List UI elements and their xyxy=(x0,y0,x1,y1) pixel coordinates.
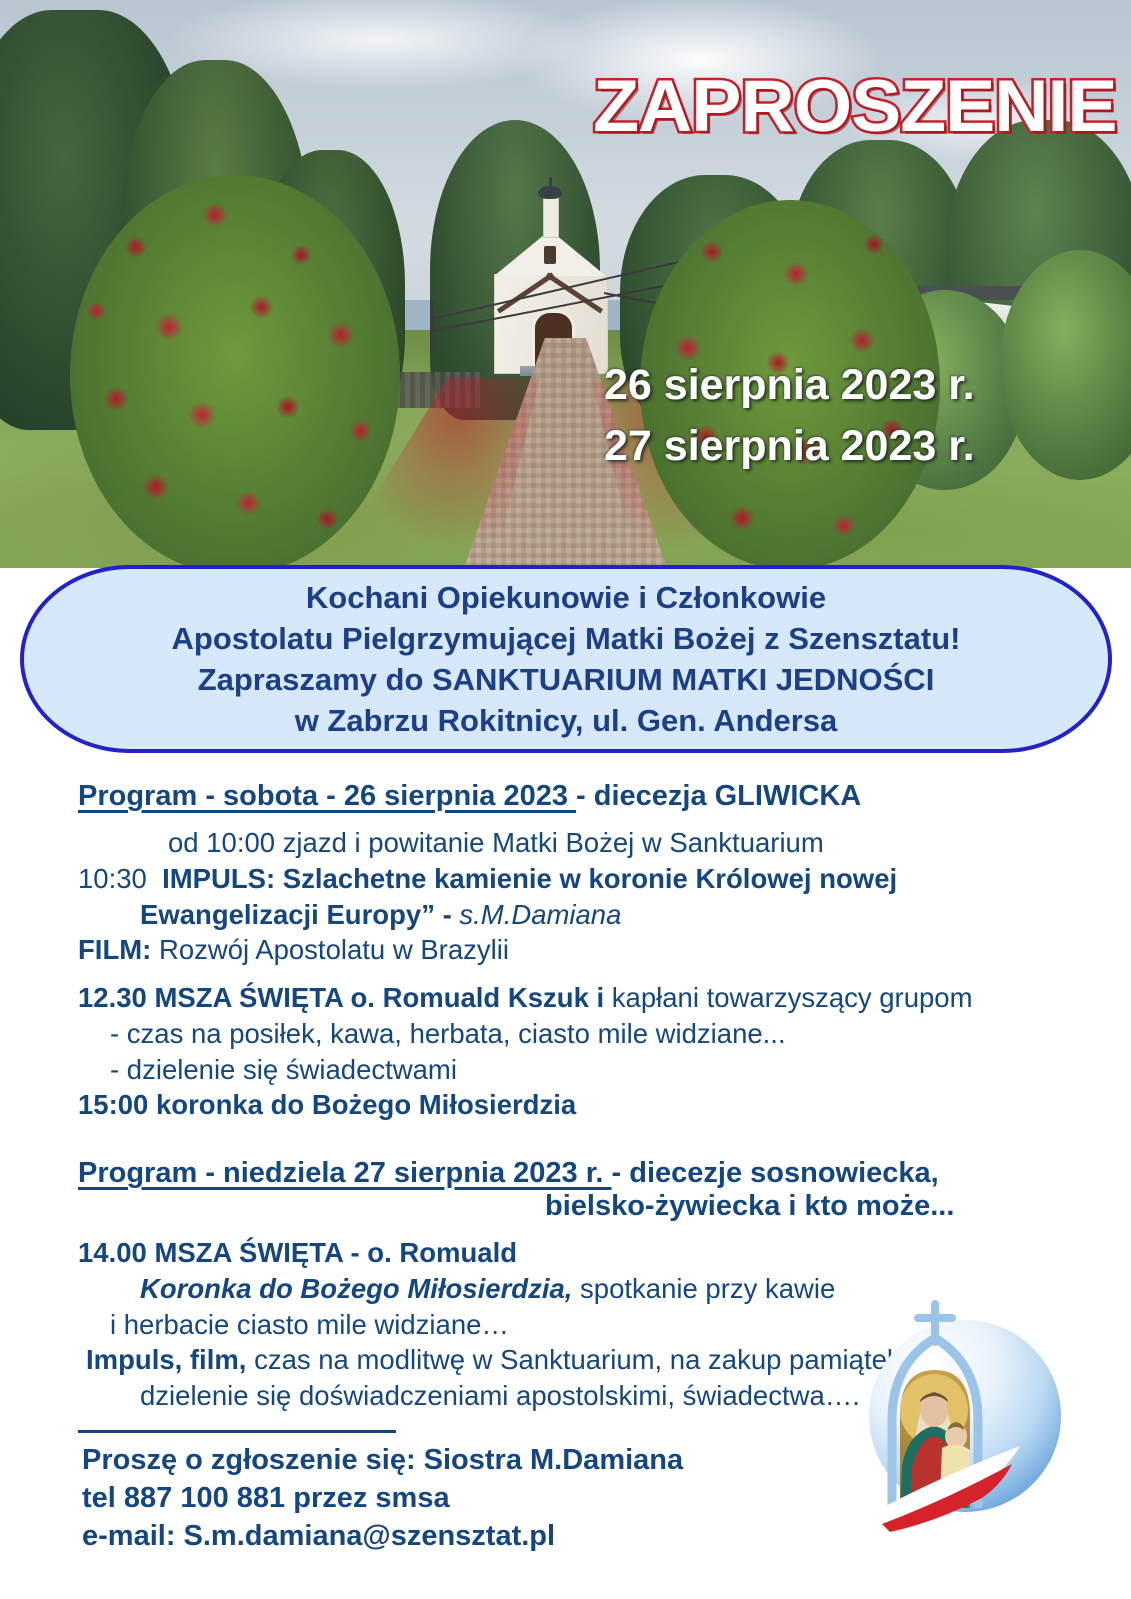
invitation-poster: ZAPROSZENIE 26 sierpnia 2023 r. 27 sierp… xyxy=(0,0,1131,1599)
callout-line-2: Apostolatu Pielgrzymującej Matki Bożej z… xyxy=(172,618,961,659)
saturday-item-chaplet: 15:00 koronka do Bożego Miłosierdzia xyxy=(0,1087,1131,1123)
poster-title: ZAPROSZENIE xyxy=(593,72,1067,141)
event-date-2: 27 sierpnia 2023 r. xyxy=(604,416,1074,477)
rose-bush xyxy=(70,175,400,568)
dash-separator: - xyxy=(435,899,459,930)
schoenstatt-logo xyxy=(860,1298,1065,1538)
saturday-heading: Program - sobota - 26 sierpnia 2023 - di… xyxy=(0,780,1131,813)
sunday-chaplet-extra: spotkanie przy kawie xyxy=(572,1273,835,1304)
saturday-impuls-speaker: s.M.Damiana xyxy=(459,899,621,930)
film-title: Rozwój Apostolatu w Brazylii xyxy=(151,934,509,965)
sunday-heading: Program - niedziela 27 sierpnia 2023 r. … xyxy=(0,1157,1131,1190)
saturday-mass-extra: kapłani towarzyszący grupom xyxy=(604,982,972,1013)
saturday-item-sharing: - dzielenie się świadectwami xyxy=(0,1052,1131,1088)
callout-line-4: w Zabrzu Rokitnicy, ul. Gen. Andersa xyxy=(295,700,838,741)
sunday-impuls-label: Impuls, film, xyxy=(86,1344,246,1375)
saturday-impuls-title: IMPULS: Szlachetne kamienie w koronie Kr… xyxy=(162,863,897,894)
saturday-item-impuls: 10:30 IMPULS: Szlachetne kamienie w koro… xyxy=(0,861,1131,897)
section-divider xyxy=(78,1430,396,1433)
event-date-1: 26 sierpnia 2023 r. xyxy=(604,355,1074,416)
saturday-item-meal: - czas na posiłek, kawa, herbata, ciasto… xyxy=(0,1016,1131,1052)
saturday-heading-underlined: Program - sobota - 26 sierpnia 2023 xyxy=(78,780,576,812)
callout-line-3: Zapraszamy do SANKTUARIUM MATKI JEDNOŚCI xyxy=(198,659,935,700)
film-label: FILM: xyxy=(78,934,151,965)
saturday-mass-label: 12.30 MSZA ŚWIĘTA o. Romuald Kszuk i xyxy=(78,982,604,1013)
sunday-heading-line2: bielsko-żywiecka i kto może... xyxy=(0,1190,1131,1223)
saturday-item-arrival: od 10:00 zjazd i powitanie Matki Bożej w… xyxy=(0,825,1131,861)
greeting-callout: Kochani Opiekunowie i Członkowie Apostol… xyxy=(20,565,1112,753)
saturday-item-impuls-cont: Ewangelizacji Europy” - s.M.Damiana xyxy=(0,897,1131,933)
saturday-item-film: FILM: Rozwój Apostolatu w Brazylii xyxy=(0,932,1131,968)
sunday-chaplet-title: Koronka do Bożego Miłosierdzia, xyxy=(140,1273,572,1304)
saturday-impuls-time: 10:30 xyxy=(78,863,147,894)
callout-line-1: Kochani Opiekunowie i Członkowie xyxy=(306,577,826,618)
saturday-heading-rest: - diecezja GLIWICKA xyxy=(576,780,861,812)
event-dates: 26 sierpnia 2023 r. 27 sierpnia 2023 r. xyxy=(604,355,1074,477)
saturday-impuls-title-cont: Ewangelizacji Europy” xyxy=(140,899,435,930)
header-photo: ZAPROSZENIE 26 sierpnia 2023 r. 27 sierp… xyxy=(0,0,1131,568)
sunday-item-mass: 14.00 MSZA ŚWIĘTA - o. Romuald xyxy=(0,1235,1131,1271)
sunday-impuls-extra: czas na modlitwę w Sanktuarium, na zakup… xyxy=(246,1344,908,1375)
sunday-heading-rest: - diecezje sosnowiecka, xyxy=(612,1157,939,1189)
saturday-item-mass: 12.30 MSZA ŚWIĘTA o. Romuald Kszuk i kap… xyxy=(0,980,1131,1016)
sunday-heading-underlined: Program - niedziela 27 sierpnia 2023 r. xyxy=(78,1157,612,1189)
